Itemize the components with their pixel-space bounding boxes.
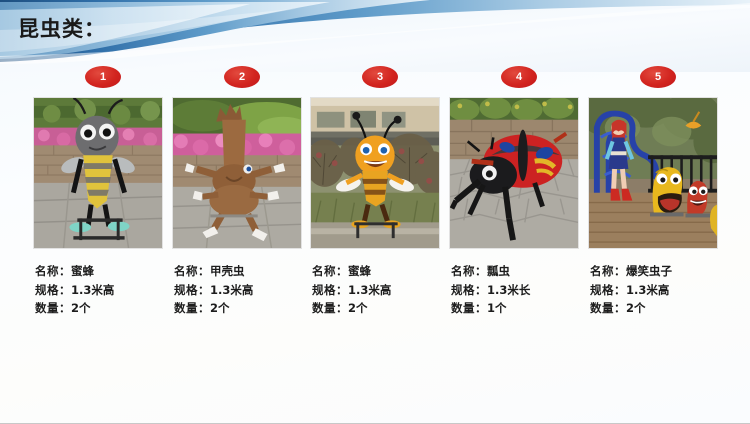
item-number-badge: 2 [224, 66, 260, 88]
item-qty-row: 数量：2个 [174, 299, 253, 318]
item-spec-row: 规格：1.3米高 [312, 281, 391, 300]
slide-canvas: 昆虫类： 1 [0, 0, 750, 424]
item-number-badge: 5 [640, 66, 676, 88]
spec-label: 规格： [312, 283, 348, 297]
item-info: 名称：蜜蜂 规格：1.3米高 数量：2个 [35, 262, 114, 318]
name-value: 蜜蜂 [71, 264, 94, 278]
qty-value: 2个 [210, 301, 230, 315]
qty-label: 数量： [174, 301, 210, 315]
name-value: 甲壳虫 [210, 264, 245, 278]
item-name-row: 名称：甲壳虫 [174, 262, 253, 281]
item-photo[interactable] [588, 97, 718, 249]
item-info: 名称：爆笑虫子 规格：1.3米高 数量：2个 [590, 262, 672, 318]
item-info: 名称：甲壳虫 规格：1.3米高 数量：2个 [174, 262, 253, 318]
qty-value: 2个 [348, 301, 368, 315]
item-photo[interactable] [449, 97, 579, 249]
item-name-row: 名称：蜜蜂 [312, 262, 391, 281]
item-spec-row: 规格：1.3米长 [451, 281, 530, 300]
spec-label: 规格： [451, 283, 487, 297]
name-label: 名称： [174, 264, 210, 278]
spec-value: 1.3米高 [71, 283, 114, 297]
item-photo[interactable] [33, 97, 163, 249]
item-name-row: 名称：蜜蜂 [35, 262, 114, 281]
item-info: 名称：蜜蜂 规格：1.3米高 数量：2个 [312, 262, 391, 318]
item-name-row: 名称：爆笑虫子 [590, 262, 672, 281]
item-qty-row: 数量：1个 [451, 299, 530, 318]
item-number-badge: 1 [85, 66, 121, 88]
spec-label: 规格： [35, 283, 71, 297]
qty-value: 2个 [626, 301, 646, 315]
spec-value: 1.3米长 [487, 283, 530, 297]
qty-label: 数量： [590, 301, 626, 315]
ladybug-sculpture-photo [450, 98, 578, 248]
header-swoosh-graphic [0, 0, 750, 72]
spec-label: 规格： [174, 283, 210, 297]
larva-sculpture-photo [589, 98, 717, 248]
name-value: 爆笑虫子 [626, 264, 672, 278]
name-label: 名称： [451, 264, 487, 278]
qty-label: 数量： [312, 301, 348, 315]
item-qty-row: 数量：2个 [590, 299, 672, 318]
item-info: 名称：瓢虫 规格：1.3米长 数量：1个 [451, 262, 530, 318]
insect-card-list: 1 [0, 66, 750, 346]
page-title: 昆虫类： [18, 13, 106, 43]
spec-value: 1.3米高 [210, 283, 253, 297]
spec-value: 1.3米高 [626, 283, 669, 297]
beetle-sculpture-photo [173, 98, 301, 248]
item-spec-row: 规格：1.3米高 [590, 281, 672, 300]
qty-value: 1个 [487, 301, 507, 315]
name-label: 名称： [590, 264, 626, 278]
item-number-badge: 3 [362, 66, 398, 88]
spec-value: 1.3米高 [348, 283, 391, 297]
orange-bee-sculpture-photo [311, 98, 439, 248]
item-photo[interactable] [310, 97, 440, 249]
item-spec-row: 规格：1.3米高 [35, 281, 114, 300]
name-label: 名称： [35, 264, 71, 278]
slide-header-banner: 昆虫类： [0, 0, 750, 72]
item-qty-row: 数量：2个 [312, 299, 391, 318]
item-number-badge: 4 [501, 66, 537, 88]
name-value: 瓢虫 [487, 264, 510, 278]
name-label: 名称： [312, 264, 348, 278]
bee-sculpture-photo [34, 98, 162, 248]
item-spec-row: 规格：1.3米高 [174, 281, 253, 300]
item-photo[interactable] [172, 97, 302, 249]
item-name-row: 名称：瓢虫 [451, 262, 530, 281]
item-qty-row: 数量：2个 [35, 299, 114, 318]
spec-label: 规格： [590, 283, 626, 297]
qty-label: 数量： [451, 301, 487, 315]
qty-label: 数量： [35, 301, 71, 315]
qty-value: 2个 [71, 301, 91, 315]
name-value: 蜜蜂 [348, 264, 371, 278]
